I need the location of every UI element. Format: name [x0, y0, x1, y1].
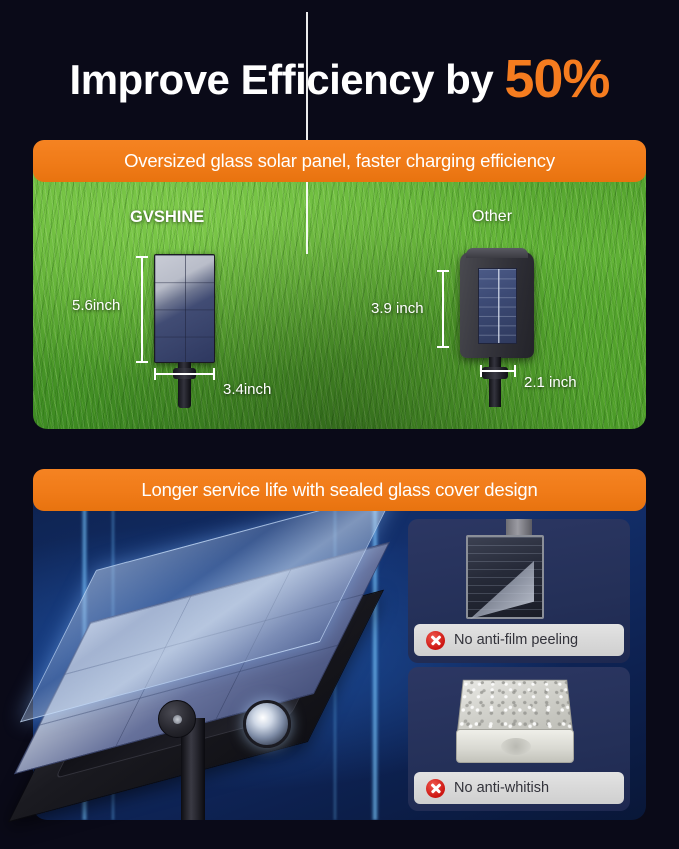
defect-card-whitish: No anti-whitish [408, 667, 630, 811]
light-beam [371, 492, 379, 820]
comparison-banner-text: Oversized glass solar panel, faster char… [124, 150, 555, 172]
defect-caption-film-peeling: No anti-film peeling [414, 624, 624, 656]
brand-label: GVSHINE [130, 208, 204, 227]
competitor-solar-cell [478, 268, 517, 344]
gvshine-width-dimension-line [154, 373, 215, 375]
gvshine-height-dimension-line [141, 256, 143, 363]
red-x-icon [426, 779, 445, 798]
competitor-height-dimension-line [442, 270, 444, 348]
competitor-width-dimension-line [480, 370, 516, 372]
headline-percent: 50% [504, 49, 609, 109]
peeling-film-photo [408, 519, 630, 623]
photo-whitened-panel [457, 680, 573, 733]
red-x-icon [426, 631, 445, 650]
headline-prefix: Improve Efficiency by [70, 56, 505, 103]
competitor-label: Other [472, 208, 512, 226]
competitor-cell-grid [479, 269, 516, 343]
defect-card-film-peeling: No anti-film peeling [408, 519, 630, 663]
durability-banner: Longer service life with sealed glass co… [33, 469, 646, 511]
panel-cell-grid [155, 255, 214, 362]
photo-fixture-base [456, 729, 574, 763]
defect-caption-text: No anti-whitish [454, 780, 549, 796]
competitor-stake [489, 357, 501, 407]
gvshine-height-label: 5.6inch [72, 297, 120, 314]
product-hinge-knob [158, 700, 196, 738]
product-led-lens [243, 700, 291, 748]
defect-caption-text: No anti-film peeling [454, 632, 578, 648]
durability-banner-text: Longer service life with sealed glass co… [141, 479, 537, 501]
whitened-fixture-photo [408, 667, 630, 771]
page-headline: Improve Efficiency by 50% [0, 48, 679, 110]
comparison-banner: Oversized glass solar panel, faster char… [33, 140, 646, 182]
comparison-divider [306, 12, 308, 254]
gvshine-solar-panel [154, 254, 215, 363]
competitor-width-label: 2.1 inch [524, 374, 577, 391]
defect-caption-whitish: No anti-whitish [414, 772, 624, 804]
gvshine-stake [178, 362, 191, 408]
gvshine-width-label: 3.4inch [223, 381, 271, 398]
competitor-height-label: 3.9 inch [371, 300, 424, 317]
